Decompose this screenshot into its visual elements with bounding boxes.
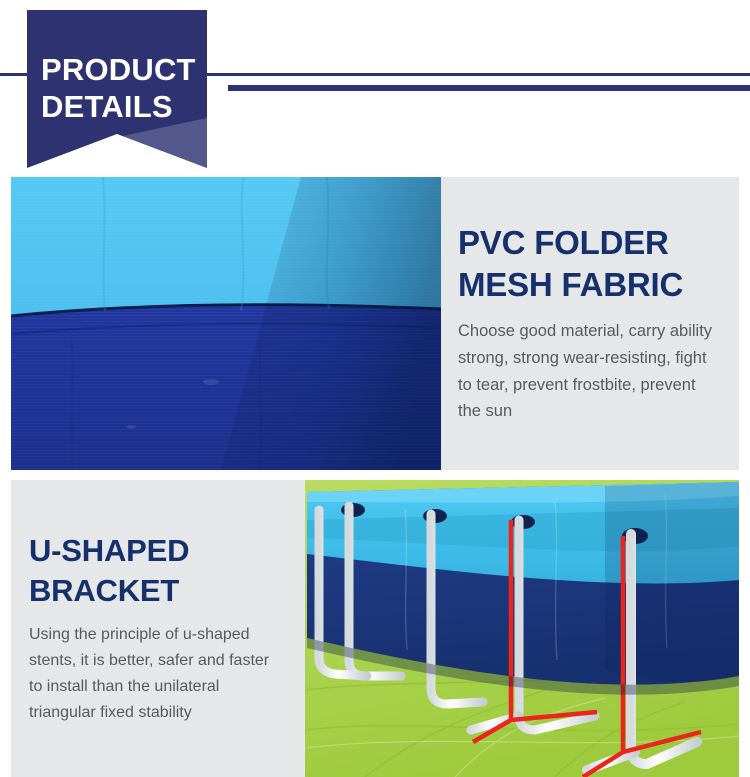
pvc-fabric-body: Choose good material, carry ability stro… (458, 318, 713, 425)
page-header: PRODUCT DETAILS (0, 0, 750, 177)
u-shaped-bracket-heading: U-SHAPED BRACKET (29, 531, 281, 610)
u-shaped-bracket-illustration (305, 480, 739, 777)
header-rule-thick (228, 85, 750, 91)
pvc-fabric-illustration (11, 177, 441, 470)
feature-section-pvc-fabric: PVC FOLDER MESH FABRIC Choose good mater… (11, 177, 739, 470)
u-shaped-bracket-photo (305, 480, 739, 777)
pvc-fabric-text-panel: PVC FOLDER MESH FABRIC Choose good mater… (441, 177, 739, 470)
product-details-banner: PRODUCT DETAILS (27, 10, 207, 168)
u-shaped-bracket-text-panel: U-SHAPED BRACKET Using the principle of … (11, 480, 305, 777)
feature-section-u-shaped-bracket: U-SHAPED BRACKET Using the principle of … (11, 480, 739, 777)
pvc-fabric-closeup-photo (11, 177, 441, 470)
banner-ribbon-shape (27, 10, 207, 168)
u-shaped-bracket-body: Using the principle of u-shaped stents, … (29, 622, 281, 726)
pvc-fabric-heading: PVC FOLDER MESH FABRIC (458, 222, 713, 306)
